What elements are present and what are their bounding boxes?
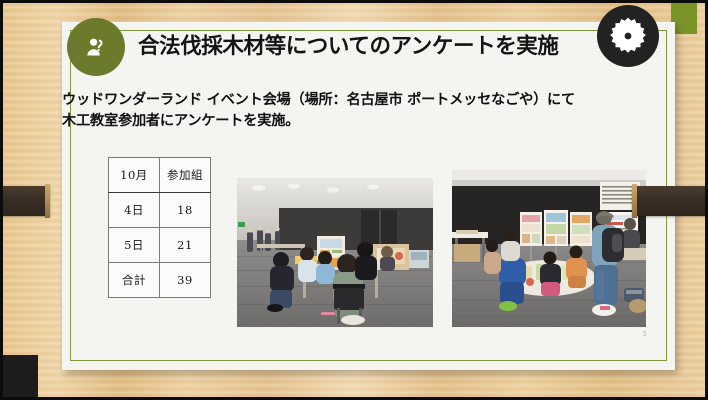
decorative-bar-right (632, 186, 708, 216)
table-cell-label: 5日 (109, 228, 160, 263)
event-hall-workshop-tables-photo (237, 178, 433, 327)
table-cell-value: 39 (160, 263, 211, 298)
body-content: 10月 参加組 4日 18 5日 21 合計 39 (62, 150, 675, 315)
children-floor-activity-photo (452, 170, 646, 327)
table-row: 5日 21 (109, 228, 211, 263)
slide-edge-left (0, 0, 3, 400)
table-header-row: 10月 参加組 (109, 158, 211, 193)
slide-root: 合法伐採木材等についてのアンケートを実施 ウッドワンダーランド イベント会場（場… (0, 0, 708, 400)
table-header-groups: 参加組 (160, 158, 211, 193)
person-icon (67, 18, 125, 76)
bar-cap-left (45, 184, 50, 218)
saw-blade-gear-icon (597, 5, 659, 67)
table-cell-value: 21 (160, 228, 211, 263)
page-title: 合法伐採木材等についてのアンケートを実施 (138, 35, 568, 59)
table-cell-label: 4日 (109, 193, 160, 228)
content-card: 合法伐採木材等についてのアンケートを実施 ウッドワンダーランド イベント会場（場… (62, 22, 675, 370)
table-cell-label: 合計 (109, 263, 160, 298)
slide-edge-top (0, 0, 708, 3)
bar-cap-right (632, 184, 637, 218)
table-header-month: 10月 (109, 158, 160, 193)
slide-header: 合法伐採木材等についてのアンケートを実施 (62, 22, 675, 80)
subtitle-text: ウッドワンダーランド イベント会場（場所：名古屋市 ポートメッセなごや）にて 木… (62, 90, 662, 131)
page-number: 5 (643, 330, 647, 338)
table-cell-value: 18 (160, 193, 211, 228)
decorative-bar-left (0, 186, 50, 216)
table-row: 4日 18 (109, 193, 211, 228)
table-row: 合計 39 (109, 263, 211, 298)
participation-table: 10月 参加組 4日 18 5日 21 合計 39 (108, 157, 211, 298)
corner-accent-block (0, 355, 38, 400)
